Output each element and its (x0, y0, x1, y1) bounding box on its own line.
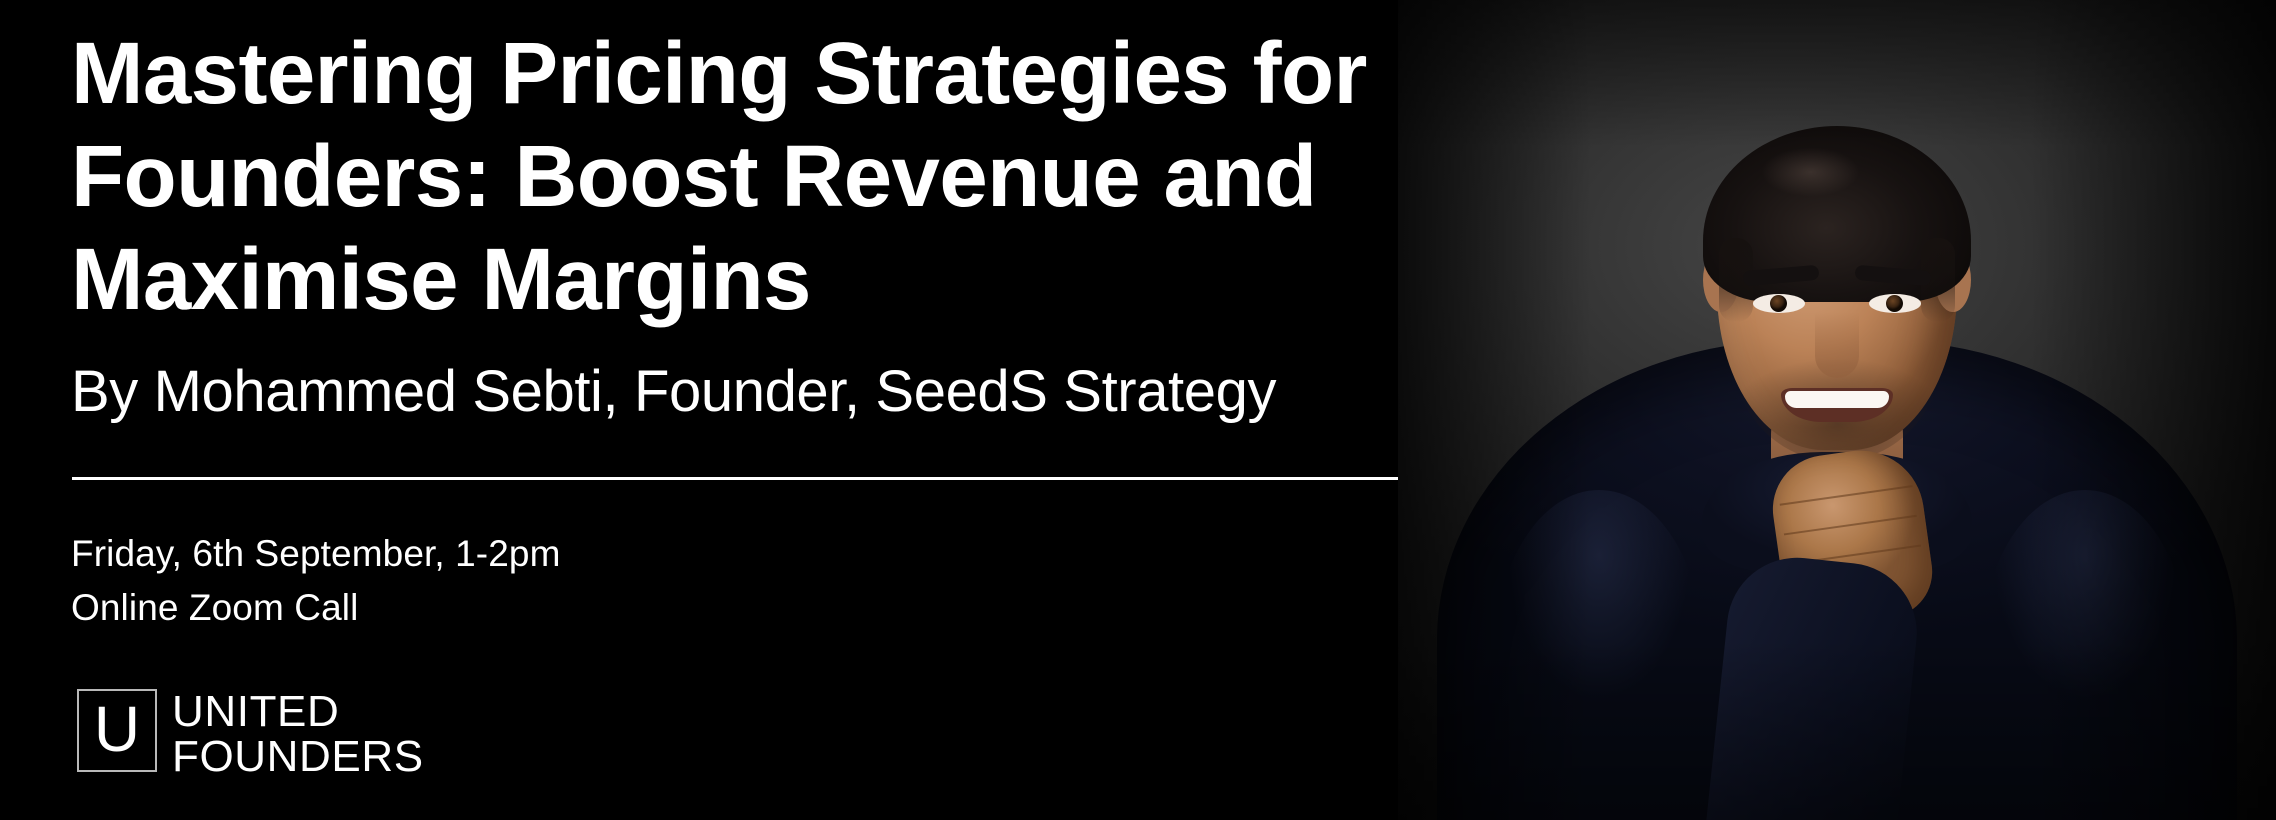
page-title: Mastering Pricing Strategies for Founder… (71, 22, 1398, 331)
united-founders-logo[interactable]: U UNITED FOUNDERS (77, 689, 424, 779)
portrait-vignette (1398, 0, 2276, 820)
event-details: Friday, 6th September, 1-2pm Online Zoom… (71, 527, 561, 635)
logo-wordmark: UNITED FOUNDERS (172, 689, 424, 779)
speaker-subtitle: By Mohammed Sebti, Founder, SeedS Strate… (71, 360, 1398, 424)
speaker-portrait-photo (1398, 0, 2276, 820)
event-location: Online Zoom Call (71, 581, 561, 635)
logo-mark-letter: U (94, 697, 140, 761)
event-promo-banner: Mastering Pricing Strategies for Founder… (0, 0, 2276, 820)
speaker-photo-panel (1398, 0, 2276, 820)
logo-word-united: UNITED (172, 689, 424, 734)
logo-u-mark-icon: U (77, 689, 157, 772)
content-panel: Mastering Pricing Strategies for Founder… (0, 0, 1398, 820)
divider (72, 477, 1398, 480)
event-datetime: Friday, 6th September, 1-2pm (71, 527, 561, 581)
logo-word-founders: FOUNDERS (172, 734, 424, 779)
